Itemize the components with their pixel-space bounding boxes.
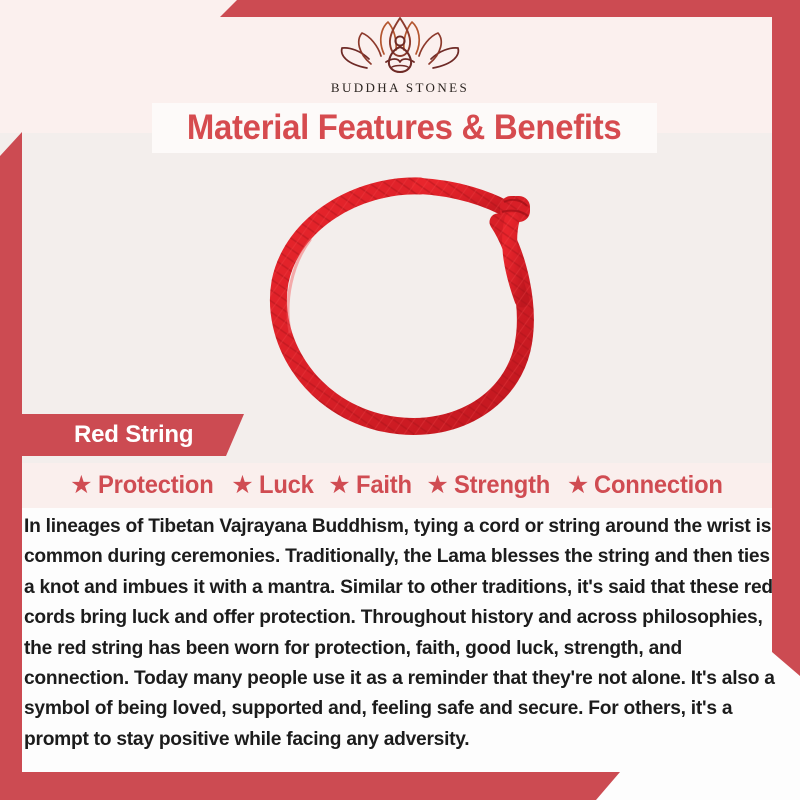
description-paragraph: In lineages of Tibetan Vajrayana Buddhis… — [24, 512, 776, 755]
product-name-label: Red String — [74, 421, 193, 449]
feature-label: Protection — [98, 471, 214, 500]
feature-label: Strength — [454, 471, 550, 500]
brand-logo: BUDDHA STONES — [0, 14, 800, 96]
brand-name: BUDDHA STONES — [331, 80, 469, 96]
star-icon: ★ — [328, 473, 350, 498]
feature-item-strength: ★ Strength — [426, 471, 555, 500]
feature-label: Faith — [356, 471, 412, 500]
star-icon: ★ — [231, 473, 253, 498]
feature-item-luck: ★ Luck — [231, 471, 316, 500]
feature-item-faith: ★ Faith — [328, 471, 414, 500]
infographic-canvas: BUDDHA STONES Material Features & Benefi… — [0, 0, 800, 800]
star-icon: ★ — [70, 473, 92, 498]
feature-label: Connection — [594, 471, 723, 500]
feature-item-connection: ★ Connection — [567, 471, 730, 500]
page-title: Material Features & Benefits — [187, 108, 622, 148]
decorative-right-vertical-bar — [772, 0, 800, 676]
product-name-ribbon: Red String — [22, 414, 244, 456]
page-title-band: Material Features & Benefits — [152, 103, 657, 153]
star-icon: ★ — [567, 473, 589, 498]
feature-label: Luck — [259, 471, 314, 500]
decorative-bottom-bar — [0, 772, 620, 800]
lotus-meditation-icon — [336, 14, 464, 76]
decorative-left-vertical-bar — [0, 132, 22, 800]
star-icon: ★ — [426, 473, 448, 498]
feature-list: ★ Protection ★ Luck ★ Faith ★ Strength ★… — [22, 464, 778, 506]
product-image-red-string-bracelet — [250, 160, 580, 450]
feature-item-protection: ★ Protection — [70, 471, 219, 500]
